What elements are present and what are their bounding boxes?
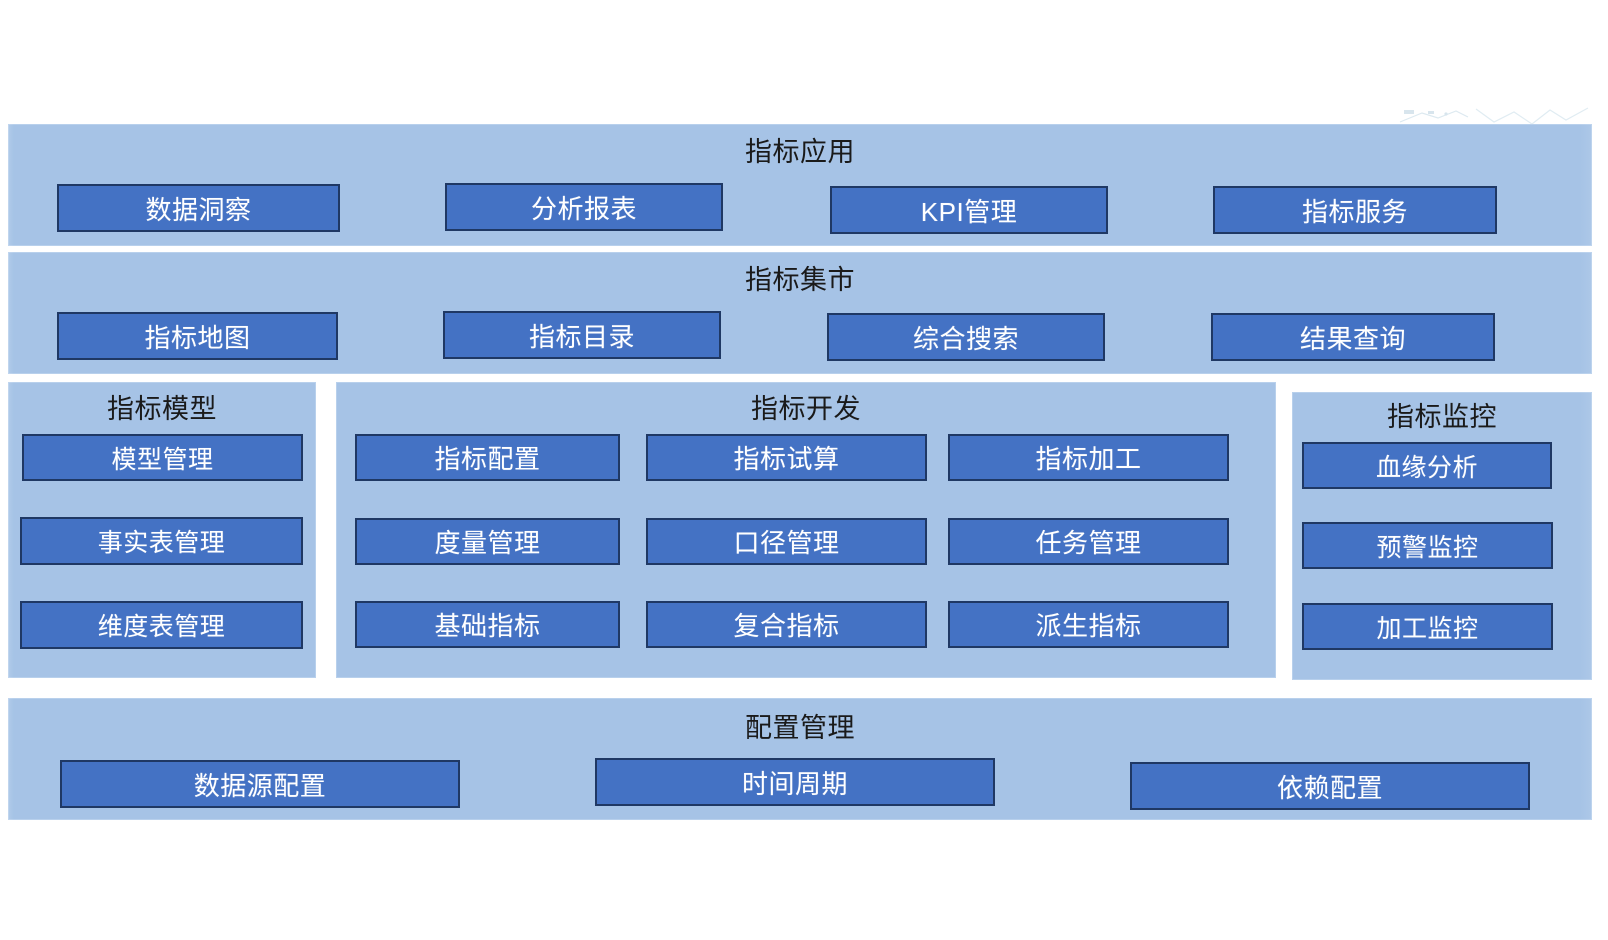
architecture-diagram-canvas: 指标应用 数据洞察 分析报表 KPI管理 指标服务 指标集市 指标地图 指标目录…: [0, 0, 1608, 940]
layer-title-indicator-application: 指标应用: [9, 137, 1591, 167]
box-indicator-trial-calculation[interactable]: 指标试算: [646, 434, 927, 481]
box-indicator-map[interactable]: 指标地图: [57, 312, 338, 360]
box-basic-indicator[interactable]: 基础指标: [355, 601, 620, 648]
layer-title-indicator-model: 指标模型: [9, 394, 315, 424]
box-alert-monitoring[interactable]: 预警监控: [1302, 522, 1553, 569]
box-processing-monitoring[interactable]: 加工监控: [1302, 603, 1553, 650]
layer-title-indicator-market: 指标集市: [9, 265, 1591, 295]
box-measure-management[interactable]: 度量管理: [355, 518, 620, 565]
box-indicator-service[interactable]: 指标服务: [1213, 186, 1497, 234]
box-composite-indicator[interactable]: 复合指标: [646, 601, 927, 648]
box-lineage-analysis[interactable]: 血缘分析: [1302, 442, 1552, 489]
layer-title-indicator-development: 指标开发: [337, 394, 1275, 424]
box-caliber-management[interactable]: 口径管理: [646, 518, 927, 565]
box-result-query[interactable]: 结果查询: [1211, 313, 1495, 361]
box-task-management[interactable]: 任务管理: [948, 518, 1229, 565]
box-time-period[interactable]: 时间周期: [595, 758, 995, 806]
box-dependency-configuration[interactable]: 依赖配置: [1130, 762, 1530, 810]
box-kpi-management[interactable]: KPI管理: [830, 186, 1108, 234]
box-dimension-table-management[interactable]: 维度表管理: [20, 601, 303, 649]
box-datasource-configuration[interactable]: 数据源配置: [60, 760, 460, 808]
box-comprehensive-search[interactable]: 综合搜索: [827, 313, 1105, 361]
box-analysis-report[interactable]: 分析报表: [445, 183, 723, 231]
box-model-management[interactable]: 模型管理: [22, 434, 303, 481]
layer-title-configuration-management: 配置管理: [9, 713, 1591, 743]
box-indicator-processing[interactable]: 指标加工: [948, 434, 1229, 481]
box-fact-table-management[interactable]: 事实表管理: [20, 517, 303, 565]
box-indicator-configuration[interactable]: 指标配置: [355, 434, 620, 481]
box-derived-indicator[interactable]: 派生指标: [948, 601, 1229, 648]
box-indicator-catalog[interactable]: 指标目录: [443, 311, 721, 359]
box-data-insight[interactable]: 数据洞察: [57, 184, 340, 232]
layer-title-indicator-monitoring: 指标监控: [1293, 402, 1591, 432]
